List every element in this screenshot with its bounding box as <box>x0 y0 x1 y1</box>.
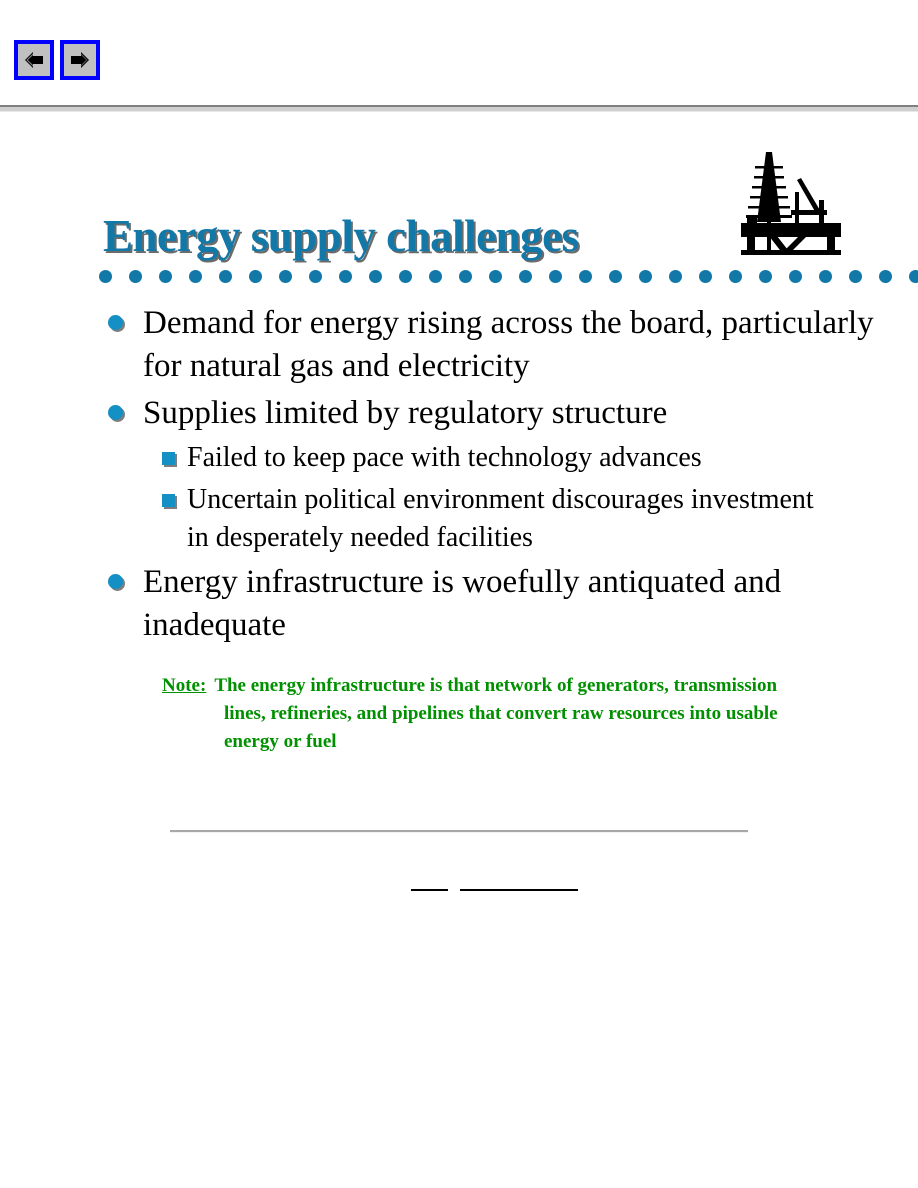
bullet-circle-icon <box>108 405 123 420</box>
rule-dot <box>159 270 172 283</box>
list-item: Supplies limited by regulatory structure <box>0 392 918 435</box>
horizontal-divider <box>170 830 748 834</box>
page-title: Energy supply challenges <box>103 210 579 262</box>
rule-dot <box>489 270 502 283</box>
rule-dot <box>399 270 412 283</box>
rule-dot <box>819 270 832 283</box>
rule-dot <box>99 270 112 283</box>
list-item: Uncertain political environment discoura… <box>0 481 918 557</box>
list-item: Failed to keep pace with technology adva… <box>0 439 918 477</box>
oil-drilling-rig-icon <box>733 144 853 264</box>
note-text: The energy infrastructure is that networ… <box>214 675 777 752</box>
list-item-text: Demand for energy rising across the boar… <box>143 305 874 384</box>
note-block: Note:The energy infrastructure is that n… <box>162 672 822 756</box>
title-dot-rule <box>99 270 918 286</box>
rule-dot <box>699 270 712 283</box>
list-item-text: Failed to keep pace with technology adva… <box>187 442 702 473</box>
rule-dot <box>639 270 652 283</box>
list-item: Energy infrastructure is woefully antiqu… <box>0 561 918 647</box>
footer-rule-short <box>411 889 448 891</box>
bullet-square-icon <box>162 452 175 465</box>
list-item-text: Energy infrastructure is woefully antiqu… <box>143 564 781 643</box>
footer-rule-long <box>460 889 578 891</box>
rule-dot <box>609 270 622 283</box>
rule-dot <box>459 270 472 283</box>
arrow-left-icon <box>22 49 46 71</box>
bullet-list: Demand for energy rising across the boar… <box>0 302 918 651</box>
rule-dot <box>219 270 232 283</box>
note-label: Note: <box>162 675 206 696</box>
bullet-circle-icon <box>108 315 123 330</box>
rule-dot <box>849 270 862 283</box>
list-item: Demand for energy rising across the boar… <box>0 302 918 388</box>
rule-dot <box>759 270 772 283</box>
rule-dot <box>579 270 592 283</box>
toolbar-separator <box>0 105 918 112</box>
back-button[interactable] <box>14 40 54 80</box>
slide-canvas: Energy supply challenges Demand for ener… <box>0 112 918 1188</box>
rule-dot <box>729 270 742 283</box>
rule-dot <box>129 270 142 283</box>
rule-dot <box>549 270 562 283</box>
rule-dot <box>249 270 262 283</box>
rule-dot <box>369 270 382 283</box>
note-body: Note:The energy infrastructure is that n… <box>162 672 822 756</box>
rule-dot <box>909 270 918 283</box>
bullet-square-icon <box>162 494 175 507</box>
rule-dot <box>189 270 202 283</box>
forward-button[interactable] <box>60 40 100 80</box>
rule-dot <box>789 270 802 283</box>
list-item-text: Uncertain political environment discoura… <box>187 484 814 553</box>
rule-dot <box>669 270 682 283</box>
list-item-text: Supplies limited by regulatory structure <box>143 395 667 431</box>
rule-dot <box>279 270 292 283</box>
rule-dot <box>429 270 442 283</box>
rule-dot <box>309 270 322 283</box>
rule-dot <box>879 270 892 283</box>
rule-dot <box>519 270 532 283</box>
rule-dot <box>339 270 352 283</box>
browser-toolbar <box>0 0 918 100</box>
arrow-right-icon <box>68 49 92 71</box>
bullet-circle-icon <box>108 574 123 589</box>
